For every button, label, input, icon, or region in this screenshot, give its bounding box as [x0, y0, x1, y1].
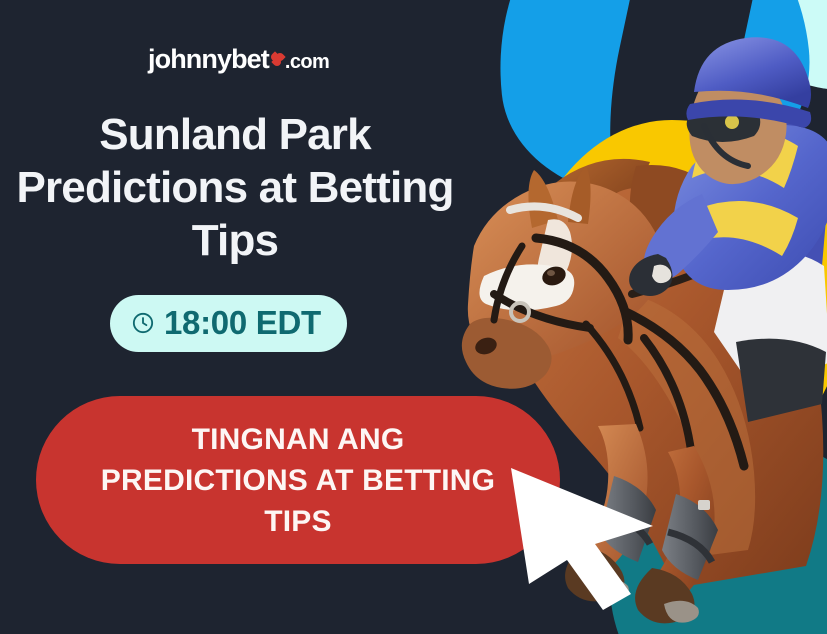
promo-banner: johnnybet .com Sunland Park Predictions … [0, 0, 827, 634]
cta-button[interactable]: Tingnan ang Predictions at Betting Tips [36, 396, 560, 564]
logo-wordmark: johnnybet [148, 44, 269, 75]
event-time-label: 18:00 EDT [164, 306, 321, 339]
logo-tld: .com [285, 51, 329, 74]
event-time-badge: 18:00 EDT [110, 295, 347, 352]
cta-button-label: Tingnan ang Predictions at Betting Tips [96, 419, 500, 542]
page-title: Sunland Park Predictions at Betting Tips [0, 108, 470, 267]
banner-content: johnnybet .com Sunland Park Predictions … [0, 0, 470, 634]
johnnybet-logo[interactable]: johnnybet .com [148, 44, 329, 75]
clock-icon [132, 312, 154, 334]
clover-icon [271, 53, 284, 66]
